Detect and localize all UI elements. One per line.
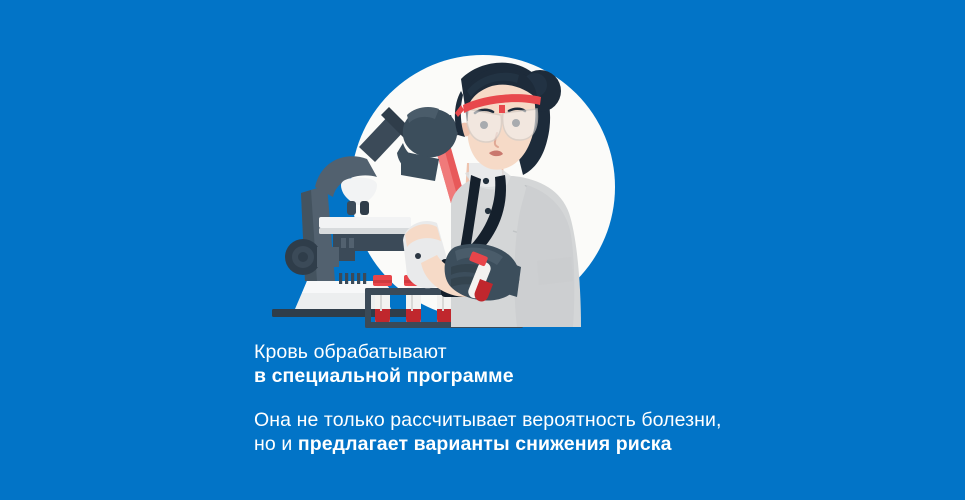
paragraph-processing-regular: Кровь обрабатывают bbox=[254, 341, 447, 363]
illustration-lab-technician bbox=[255, 35, 675, 335]
caption-block: Кровь обрабатывают в специальной програм… bbox=[254, 340, 724, 456]
paragraph-processing-bold: в специальной программе bbox=[254, 365, 514, 387]
blood-sample-tube bbox=[373, 275, 392, 327]
paragraph-processing: Кровь обрабатывают в специальной програм… bbox=[254, 340, 724, 388]
illustration-svg bbox=[255, 35, 675, 335]
slide-root: Кровь обрабатывают в специальной програм… bbox=[0, 0, 965, 500]
paragraph-risk-bold: предлагает варианты снижения риска bbox=[298, 433, 672, 455]
paragraph-risk: Она не только рассчитывает вероятность б… bbox=[254, 408, 724, 456]
